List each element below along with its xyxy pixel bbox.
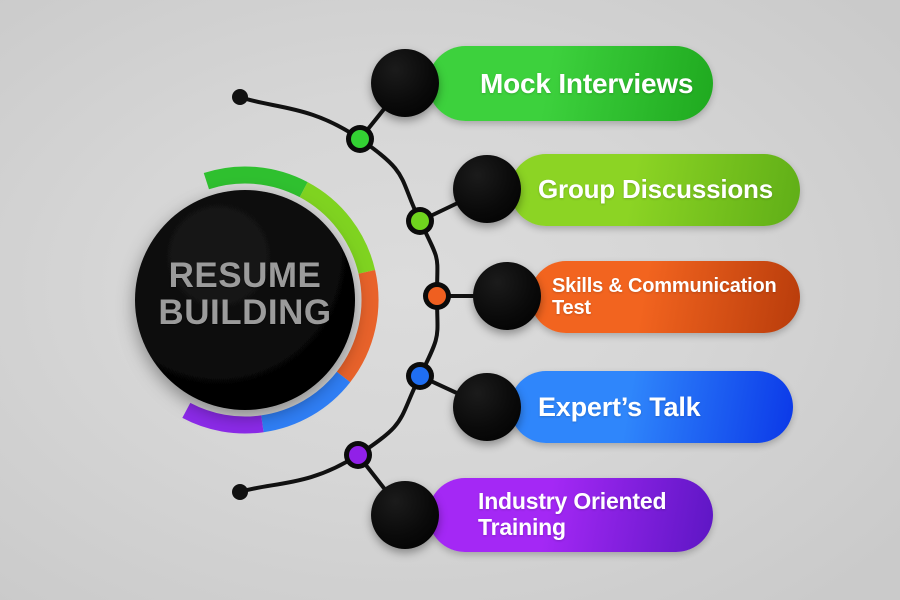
node-core-skills-and-communication-test[interactable] [428,287,446,305]
infographic-canvas: Mock InterviewsGroup DiscussionsSkills &… [0,0,900,600]
node-core-experts-talk[interactable] [411,367,429,385]
node-core-industry-oriented-training[interactable] [349,446,367,464]
node-core-group-discussions[interactable] [411,212,429,230]
node-core-mock-interviews[interactable] [351,130,369,148]
hub-title: RESUME BUILDING [135,258,355,332]
node-group [344,125,451,469]
